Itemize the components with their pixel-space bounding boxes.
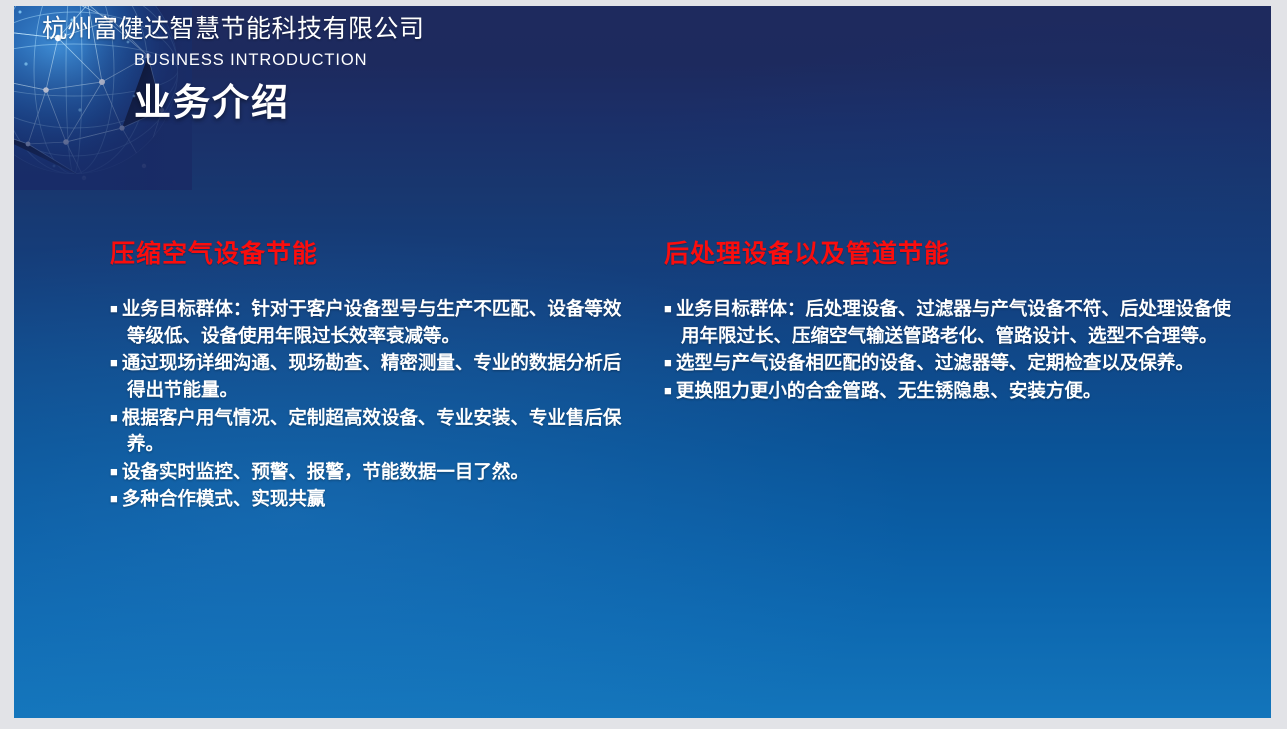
presentation-slide: 杭州富健达智慧节能科技有限公司 BUSINESS INTRODUCTION 业务…: [14, 6, 1271, 718]
column-post-processing: 后处理设备以及管道节能 ■业务目标群体：后处理设备、过滤器与产气设备不符、后处理…: [644, 234, 1264, 514]
list-item-text: 更换阻力更小的合金管路、无生锈隐患、安装方便。: [676, 380, 1102, 401]
bullet-square-icon: ■: [110, 491, 118, 506]
list-item-text: 多种合作模式、实现共赢: [122, 488, 326, 509]
list-item: ■选型与产气设备相匹配的设备、过滤器等、定期检查以及保养。: [664, 350, 1244, 377]
list-item: ■设备实时监控、预警、报警，节能数据一目了然。: [110, 459, 626, 486]
list-item-text: 通过现场详细沟通、现场勘查、精密测量、专业的数据分析后得出节能量。: [122, 352, 622, 400]
list-item: ■业务目标群体：后处理设备、过滤器与产气设备不符、后处理设备使用年限过长、压缩空…: [664, 296, 1244, 349]
list-item: ■业务目标群体：针对于客户设备型号与生产不匹配、设备等效等级低、设备使用年限过长…: [110, 296, 626, 349]
bullet-square-icon: ■: [664, 355, 672, 370]
slide-header: 杭州富健达智慧节能科技有限公司 BUSINESS INTRODUCTION 业务…: [42, 14, 762, 126]
bullet-square-icon: ■: [664, 301, 672, 316]
subtitle-english: BUSINESS INTRODUCTION: [134, 51, 762, 70]
column-heading: 压缩空气设备节能: [110, 234, 626, 270]
bullet-square-icon: ■: [110, 464, 118, 479]
bullet-square-icon: ■: [110, 355, 118, 370]
column-heading: 后处理设备以及管道节能: [664, 234, 1244, 270]
bullet-square-icon: ■: [110, 301, 118, 316]
list-item-text: 业务目标群体：针对于客户设备型号与生产不匹配、设备等效等级低、设备使用年限过长效…: [122, 298, 622, 346]
column-compressed-air: 压缩空气设备节能 ■业务目标群体：针对于客户设备型号与生产不匹配、设备等效等级低…: [14, 234, 644, 514]
list-item: ■根据客户用气情况、定制超高效设备、专业安装、专业售后保养。: [110, 405, 626, 458]
company-name: 杭州富健达智慧节能科技有限公司: [42, 14, 762, 45]
bullet-list: ■业务目标群体：后处理设备、过滤器与产气设备不符、后处理设备使用年限过长、压缩空…: [664, 296, 1244, 405]
list-item-text: 设备实时监控、预警、报警，节能数据一目了然。: [122, 461, 529, 482]
list-item-text: 根据客户用气情况、定制超高效设备、专业安装、专业售后保养。: [122, 407, 622, 455]
bullet-list: ■业务目标群体：针对于客户设备型号与生产不匹配、设备等效等级低、设备使用年限过长…: [110, 296, 626, 513]
slide-content: 压缩空气设备节能 ■业务目标群体：针对于客户设备型号与生产不匹配、设备等效等级低…: [14, 234, 1271, 514]
bullet-square-icon: ■: [664, 383, 672, 398]
list-item-text: 选型与产气设备相匹配的设备、过滤器等、定期检查以及保养。: [676, 352, 1194, 373]
list-item-text: 业务目标群体：后处理设备、过滤器与产气设备不符、后处理设备使用年限过长、压缩空气…: [676, 298, 1231, 346]
list-item: ■更换阻力更小的合金管路、无生锈隐患、安装方便。: [664, 378, 1244, 405]
subtitle-chinese: 业务介绍: [134, 72, 762, 126]
list-item: ■通过现场详细沟通、现场勘查、精密测量、专业的数据分析后得出节能量。: [110, 350, 626, 403]
list-item: ■多种合作模式、实现共赢: [110, 486, 626, 513]
bullet-square-icon: ■: [110, 410, 118, 425]
